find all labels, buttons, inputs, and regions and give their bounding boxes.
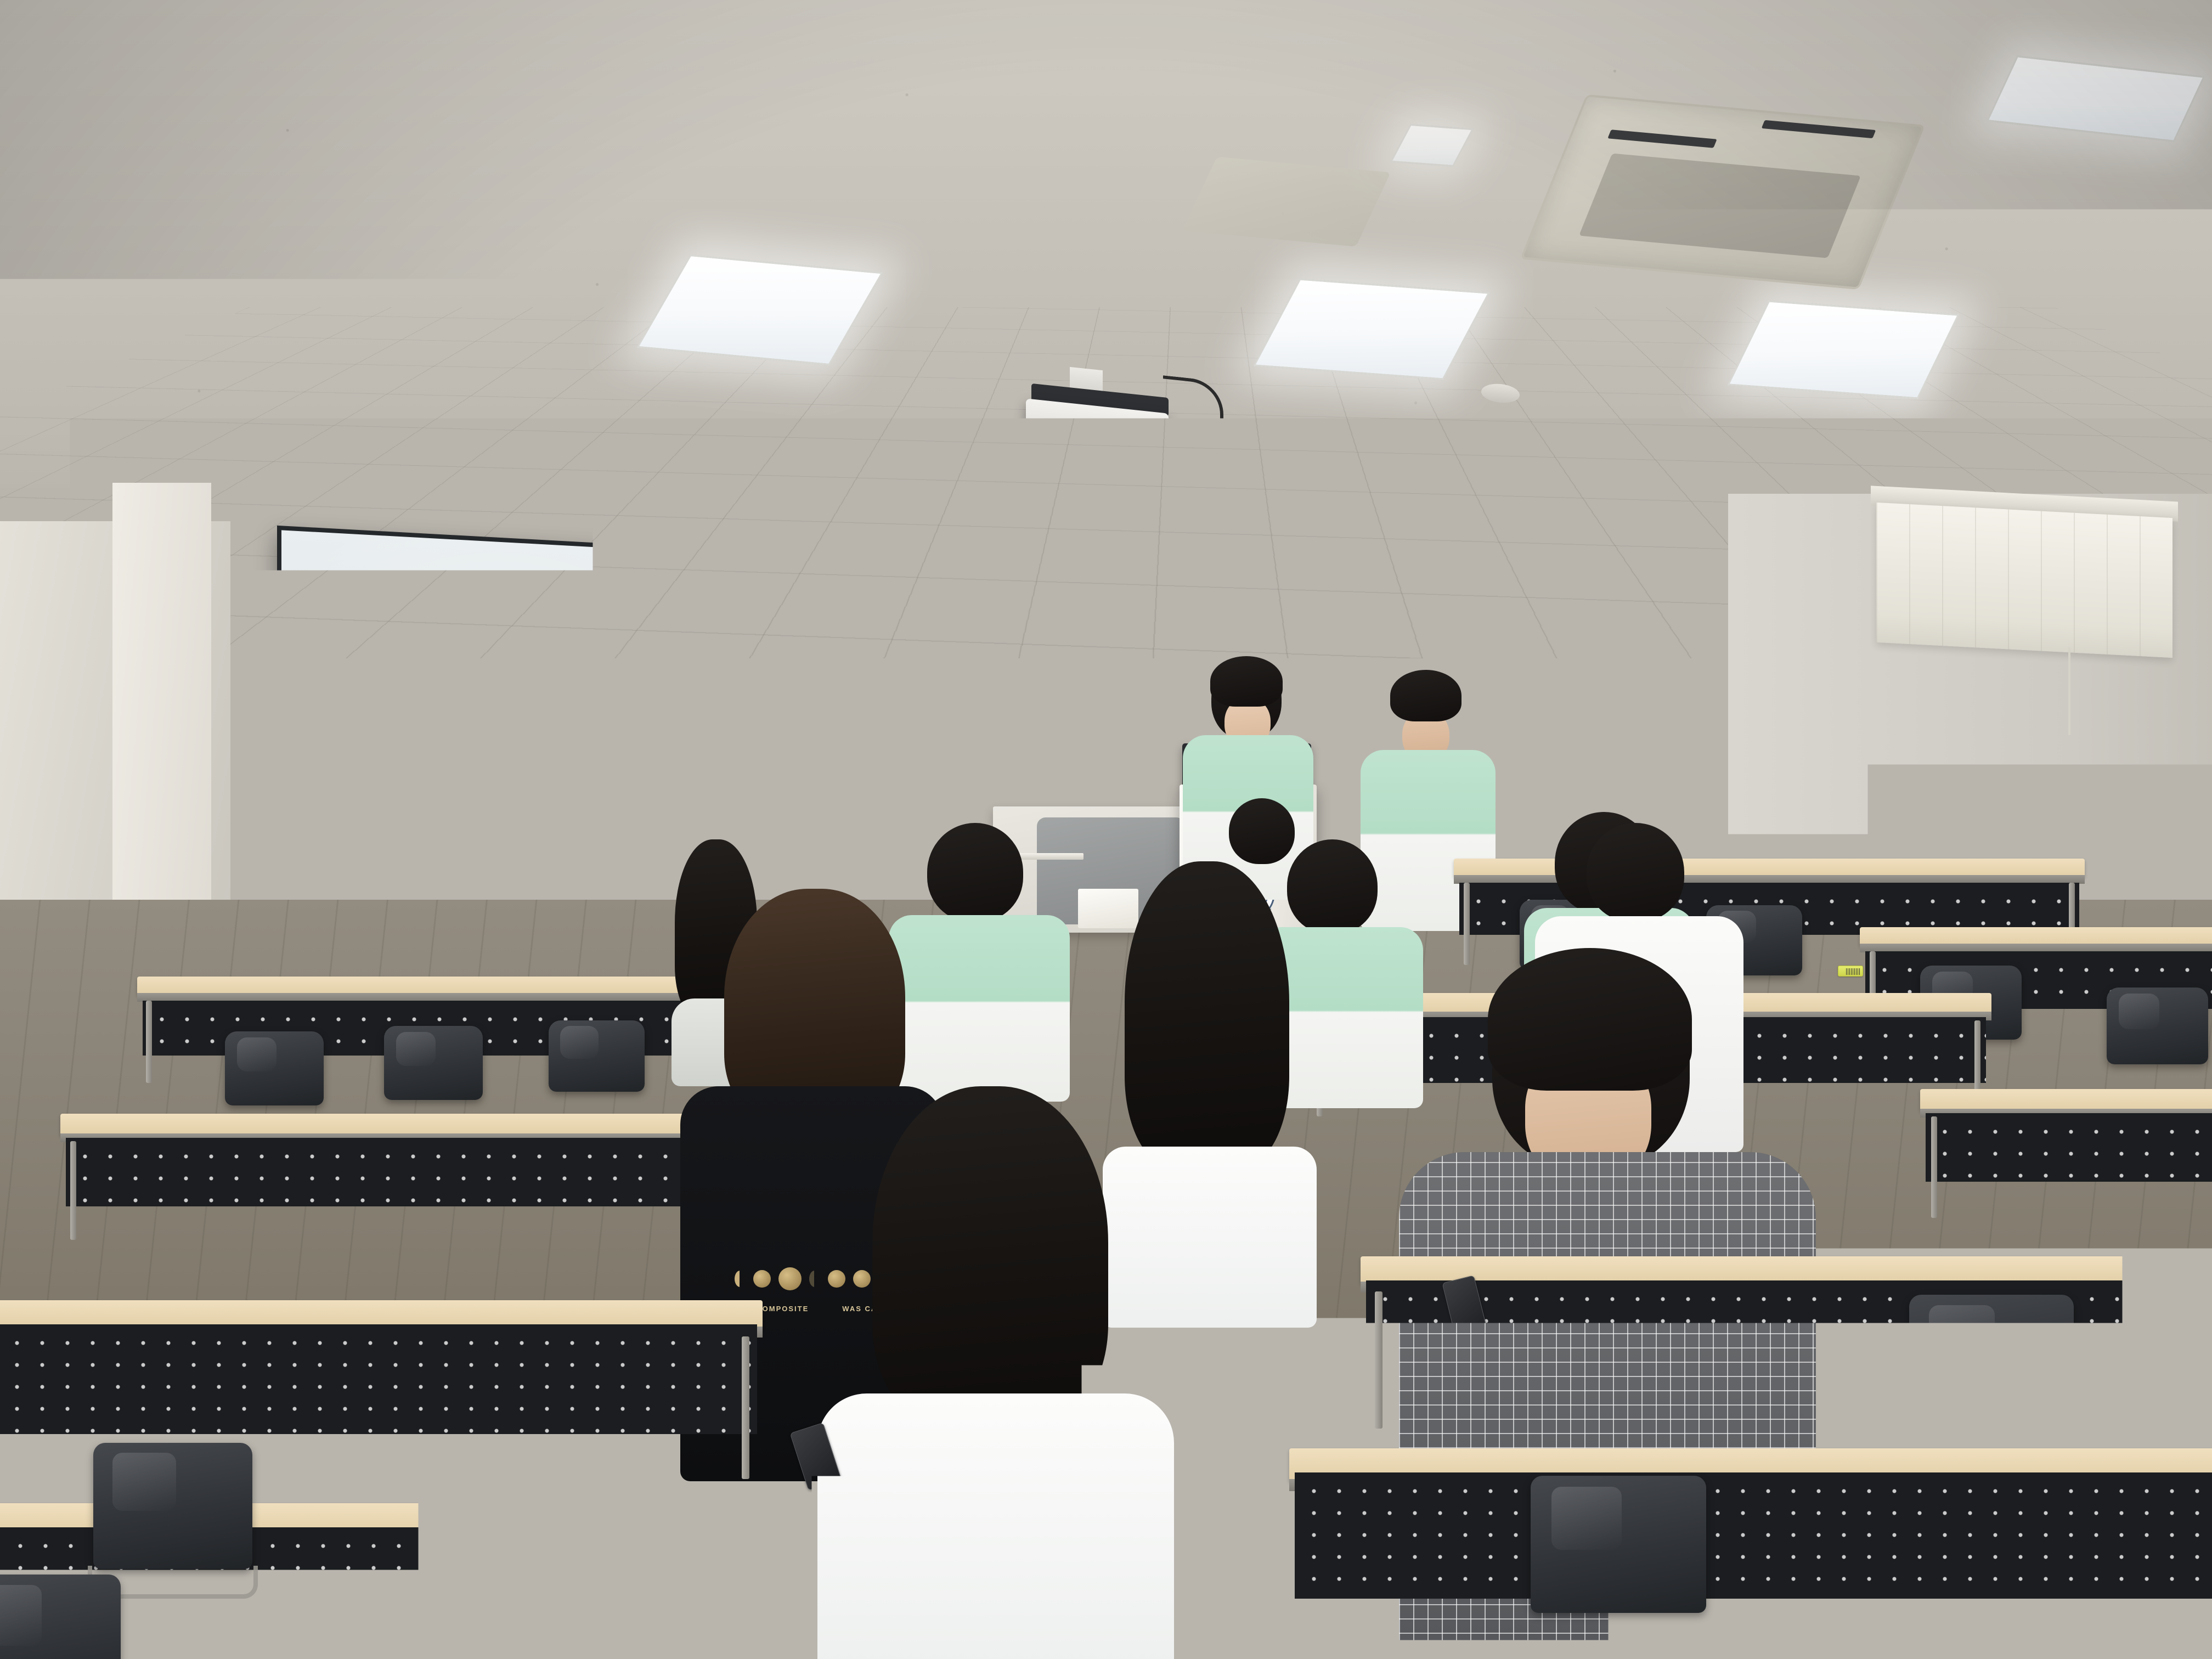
slide-title: 2. 집행부 각 부서별 보고 및 계획: [397, 613, 737, 661]
classroom-chair[interactable]: [93, 1443, 252, 1569]
row-events: 신입생 환영주간 (3.2 ~ 3.8) 회교 E-sports 대회 (3.2…: [403, 690, 770, 748]
audience-hair: [1488, 948, 1692, 1091]
classroom-photo: 2. 집행부 각 부서별 보고 및 계획 기획총무부 월 행사 3월 신입생 환…: [0, 0, 2212, 1659]
desk-row-foreground: [0, 1300, 763, 1443]
door-handle[interactable]: [1636, 730, 1641, 771]
presenter-hair: [1210, 656, 1283, 707]
light-switch[interactable]: [1661, 785, 1693, 808]
ceiling-light-fixture: [1727, 300, 1959, 399]
classroom-chair[interactable]: [592, 1555, 774, 1659]
row-month: 4월: [336, 761, 403, 780]
door-vision-panel: [1569, 713, 1600, 764]
audience-uniform-jacket: [889, 915, 1070, 1102]
row-month: 5월: [336, 831, 403, 850]
wall-notice-plate: [1668, 738, 1715, 781]
classroom-chair[interactable]: [0, 1575, 121, 1659]
av-shelf: [1018, 853, 1084, 860]
desk-row: [60, 1114, 708, 1210]
classroom-chair[interactable]: [2107, 988, 2208, 1064]
audience-head: [1287, 839, 1378, 934]
ceiling-air-conditioner: [1182, 157, 1390, 247]
audience-head: [927, 823, 1023, 922]
blind-folds: [1876, 503, 2172, 658]
slide-subtitle: 기획총무부: [339, 636, 415, 664]
asset-barcode-sticker: [1838, 966, 1863, 977]
desk-row-foreground: [1361, 1256, 2212, 1393]
blind-pull-cord[interactable]: [2068, 647, 2070, 735]
audience-torso: [1103, 1147, 1317, 1328]
classroom-chair[interactable]: [1909, 1295, 2074, 1424]
audience-head: [1229, 798, 1295, 864]
row-events: 중간고사 (4.20 ~ 4.26) 회교인의 이해 (4월 ~ 6월) 연합 …: [403, 746, 770, 818]
desk-row-foreground: [1289, 1448, 2212, 1613]
audience-head: [1587, 823, 1684, 922]
column-header-month: 월: [366, 666, 373, 677]
desk-row: [1920, 1089, 2212, 1188]
classroom-chair[interactable]: [384, 1026, 483, 1100]
audience-long-hair: [872, 1086, 1108, 1426]
audience-long-hair: [1125, 861, 1289, 1169]
classroom-chair[interactable]: [225, 1031, 324, 1105]
classroom-chair[interactable]: [549, 1020, 645, 1092]
row-month: 3월: [336, 698, 403, 717]
column-header-event: 행사: [580, 678, 593, 689]
av-equipment-box: [1078, 889, 1138, 928]
classroom-chair[interactable]: [1531, 1476, 1706, 1613]
presenter-hair: [1390, 670, 1462, 721]
